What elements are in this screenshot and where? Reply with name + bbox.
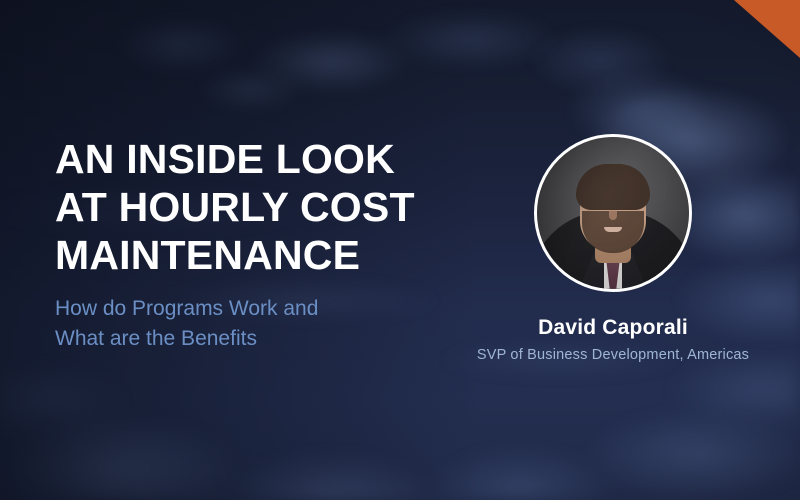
title-line-2: AT HOURLY COST xyxy=(55,183,485,231)
page-subtitle: How do Programs Work and What are the Be… xyxy=(55,294,475,354)
title-line-1: AN INSIDE LOOK xyxy=(55,135,485,183)
speaker-photo xyxy=(537,137,689,289)
hair-shape xyxy=(576,164,650,210)
mouth-shape xyxy=(604,227,622,232)
promo-banner: AN INSIDE LOOK AT HOURLY COST MAINTENANC… xyxy=(0,0,800,500)
speaker-role: SVP of Business Development, Americas xyxy=(448,345,778,365)
speaker-caption: David Caporali SVP of Business Developme… xyxy=(448,315,778,365)
title-line-3: MAINTENANCE xyxy=(55,231,485,279)
subtitle-line-2: What are the Benefits xyxy=(55,324,475,354)
page-title: AN INSIDE LOOK AT HOURLY COST MAINTENANC… xyxy=(55,135,485,279)
subtitle-line-1: How do Programs Work and xyxy=(55,294,475,324)
avatar xyxy=(534,134,692,292)
speaker-name: David Caporali xyxy=(448,315,778,341)
